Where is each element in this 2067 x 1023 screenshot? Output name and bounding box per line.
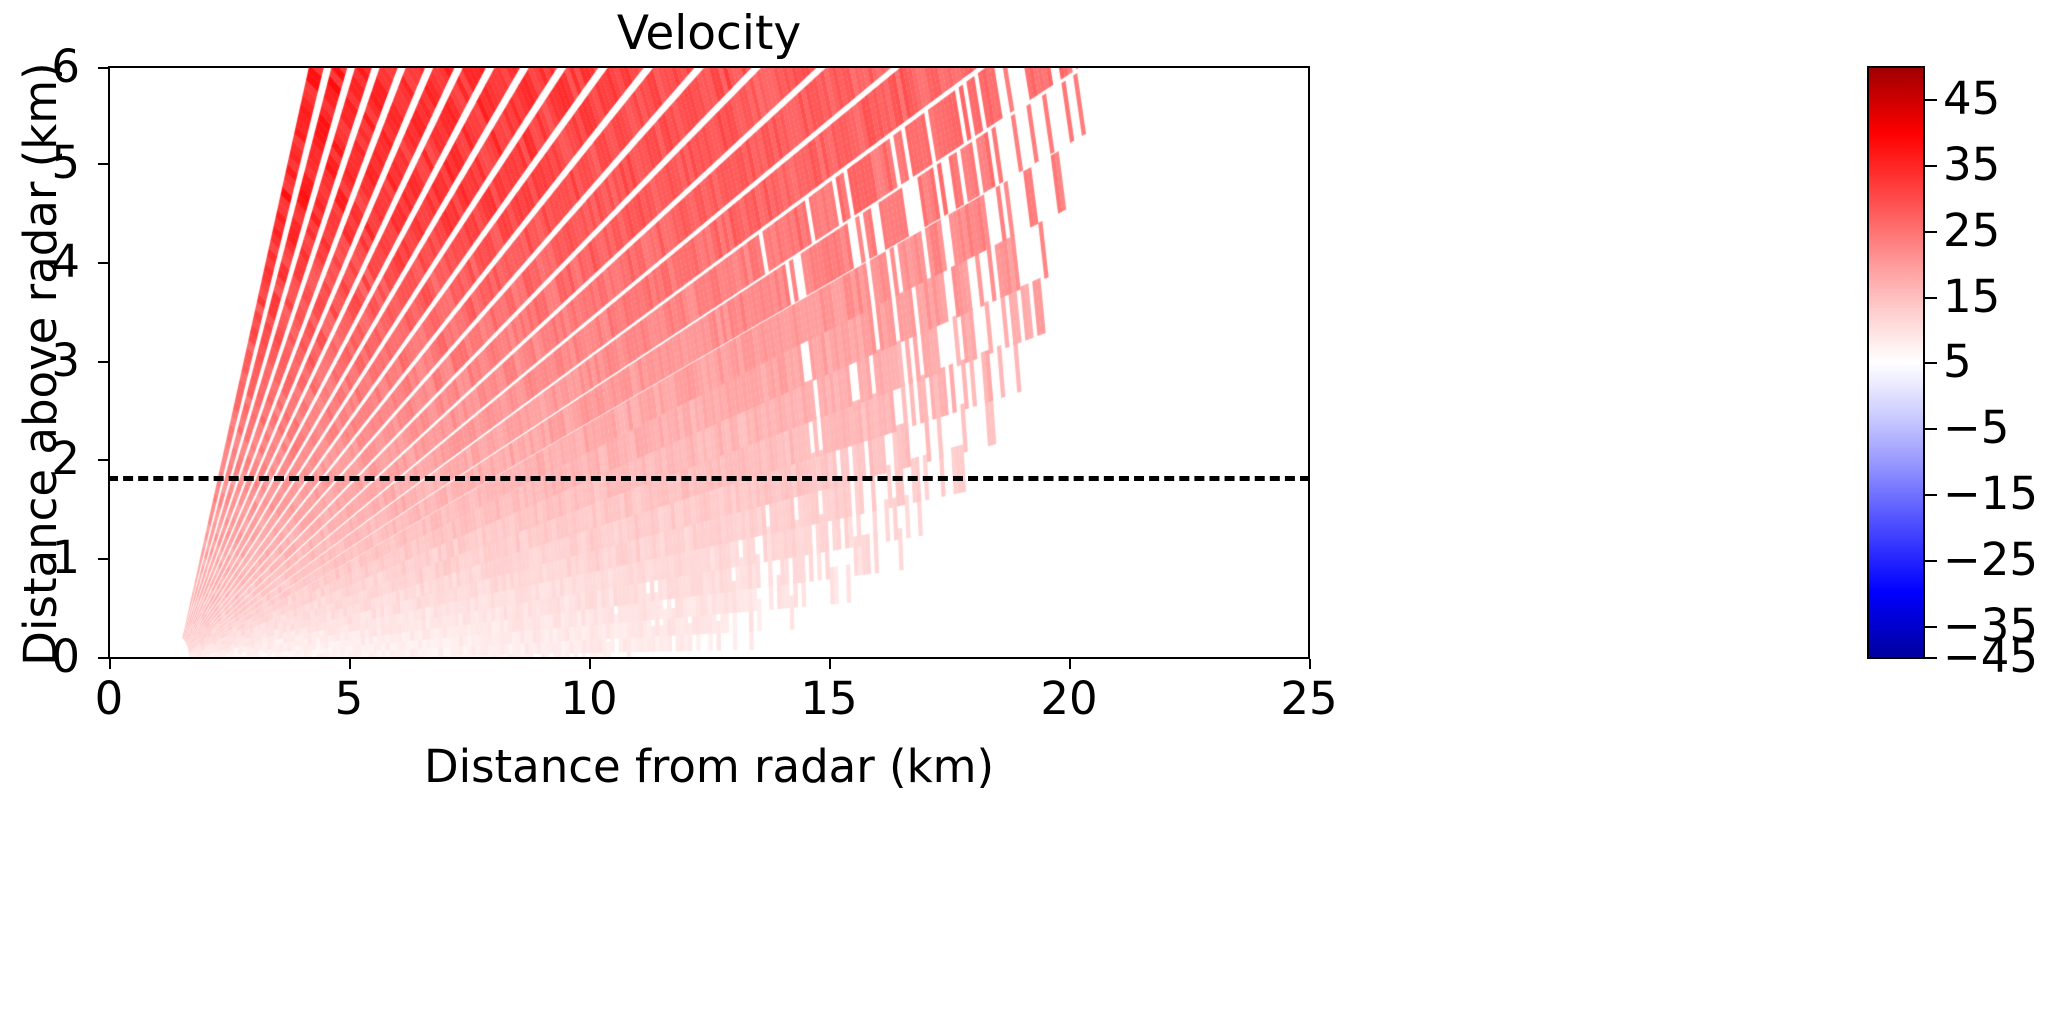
colorbar-tick	[1925, 231, 1937, 233]
ytick-mark	[98, 361, 108, 363]
x-axis-title: Distance from radar (km)	[108, 740, 1310, 794]
colorbar-label-neg5: −5	[1943, 401, 2009, 455]
ytick-mark	[98, 459, 108, 461]
xtick-label-5: 5	[289, 672, 409, 726]
reference-height-line	[108, 476, 1310, 481]
y-axis-title: Distance above radar (km)	[14, 54, 68, 674]
colorbar-label-5: 5	[1943, 335, 1972, 389]
colorbar-gradient	[1867, 66, 1925, 659]
xtick-mark	[829, 659, 831, 669]
colorbar-label-25: 25	[1943, 204, 2000, 258]
xtick-mark	[349, 659, 351, 669]
colorbar-tick	[1925, 626, 1937, 628]
colorbar-label-45: 45	[1943, 72, 2000, 126]
data-clip-region	[110, 68, 1308, 657]
chart-title: Velocity	[108, 6, 1310, 62]
colorbar-tick	[1925, 494, 1937, 496]
ytick-mark	[98, 67, 108, 69]
xtick-label-15: 15	[769, 672, 889, 726]
plot-area	[108, 66, 1310, 659]
colorbar-label-neg15: −15	[1943, 467, 2038, 521]
xtick-label-25: 25	[1249, 672, 1369, 726]
xtick-mark	[1309, 659, 1311, 669]
xtick-mark	[1069, 659, 1071, 669]
xtick-mark	[109, 659, 111, 669]
ytick-mark	[98, 262, 108, 264]
colorbar-tick	[1925, 99, 1937, 101]
colorbar-tick	[1925, 428, 1937, 430]
xtick-label-20: 20	[1009, 672, 1129, 726]
ytick-mark	[98, 657, 108, 659]
ytick-mark	[98, 558, 108, 560]
velocity-rhi-figure: Velocity 0 5 10 15 20 25 0 1 2 3 4 5 6 D…	[0, 0, 2067, 1023]
xtick-label-10: 10	[529, 672, 649, 726]
radar-velocity-heatmap	[110, 68, 1308, 657]
colorbar-label-neg25: −25	[1943, 533, 2038, 587]
colorbar-label-15: 15	[1943, 270, 2000, 324]
colorbar-label-35: 35	[1943, 138, 2000, 192]
colorbar: 45 35 25 15 5 −5 −15 −25 −35 −45	[1867, 66, 1925, 659]
xtick-mark	[589, 659, 591, 669]
ytick-mark	[98, 163, 108, 165]
colorbar-tick	[1925, 362, 1937, 364]
colorbar-tick	[1925, 560, 1937, 562]
colorbar-tick	[1925, 657, 1937, 659]
colorbar-label-neg45: −45	[1943, 630, 2038, 684]
colorbar-tick	[1925, 165, 1937, 167]
colorbar-tick	[1925, 297, 1937, 299]
